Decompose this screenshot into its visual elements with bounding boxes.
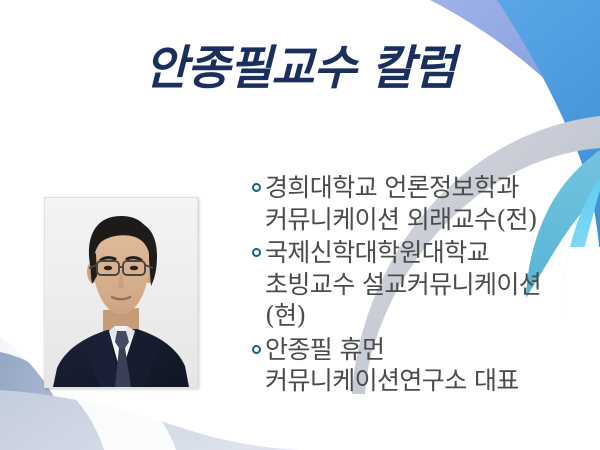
- list-item-label: 국제신학대학원대학교 초빙교수 설교커뮤니케이션(현): [265, 237, 572, 332]
- list-item: 안종필 휴먼 커뮤니케이션연구소 대표: [252, 334, 572, 397]
- portrait-photo-image: [45, 198, 197, 387]
- hollow-circle-icon: [252, 248, 261, 257]
- bullet-list: 경희대학교 언론정보학과 커뮤니케이션 외래교수(전) 국제신학대학원대학교 초…: [252, 172, 572, 399]
- deco-band-light-slate: [0, 390, 300, 450]
- slide-title: 안종필교수 칼럼: [0, 42, 600, 96]
- hollow-circle-icon: [252, 183, 261, 192]
- portrait-photo: [44, 197, 198, 388]
- list-item: 국제신학대학원대학교 초빙교수 설교커뮤니케이션(현): [252, 237, 572, 332]
- list-item-label: 경희대학교 언론정보학과 커뮤니케이션 외래교수(전): [265, 172, 572, 235]
- presentation-slide: 안종필교수 칼럼: [0, 0, 600, 450]
- list-item-label: 안종필 휴먼 커뮤니케이션연구소 대표: [265, 334, 572, 397]
- list-item: 경희대학교 언론정보학과 커뮤니케이션 외래교수(전): [252, 172, 572, 235]
- hollow-circle-icon: [252, 345, 261, 354]
